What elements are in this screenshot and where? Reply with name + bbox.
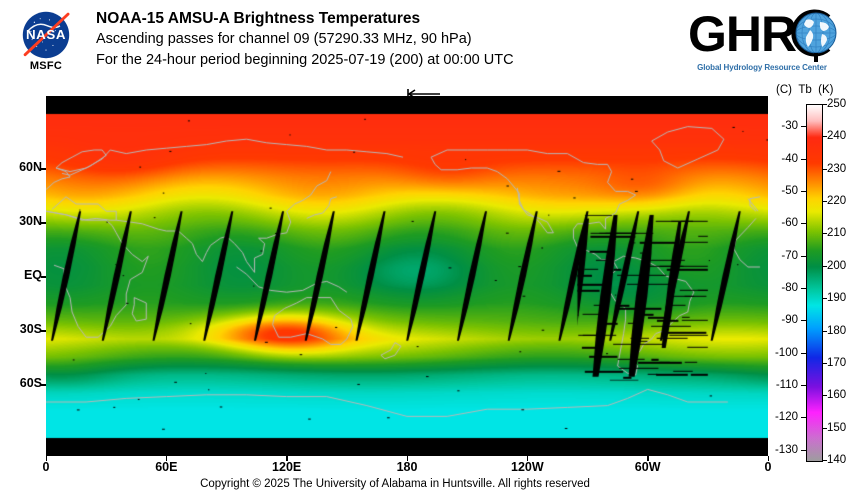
colorbar-tick bbox=[822, 363, 827, 364]
colorbar-tick bbox=[822, 266, 827, 267]
colorbar bbox=[806, 104, 823, 462]
colorbar-tick bbox=[801, 417, 806, 418]
lon-label-180: 180 bbox=[397, 460, 418, 474]
colorbar-tick bbox=[801, 256, 806, 257]
lon-tick bbox=[46, 456, 48, 461]
colorbar-tick bbox=[801, 320, 806, 321]
colorbar-celsius-labels: -30-40-50-60-70-80-90-100-110-120-130 bbox=[762, 0, 798, 502]
page-title: NOAA-15 AMSU-A Brightness Temperatures bbox=[96, 8, 696, 29]
colorbar-celsius-tick: -30 bbox=[781, 120, 798, 132]
colorbar-kelvin-tick: 240 bbox=[827, 130, 846, 142]
colorbar-tick bbox=[822, 233, 827, 234]
title-block: NOAA-15 AMSU-A Brightness Temperatures A… bbox=[96, 8, 696, 71]
colorbar-tick bbox=[822, 169, 827, 170]
colorbar-gradient bbox=[807, 105, 822, 461]
colorbar-celsius-tick: -60 bbox=[781, 217, 798, 229]
colorbar-kelvin-tick: 250 bbox=[827, 98, 846, 110]
lon-tick bbox=[527, 456, 529, 461]
colorbar-kelvin-tick: 230 bbox=[827, 163, 846, 175]
colorbar-kelvin-tick: 170 bbox=[827, 357, 846, 369]
lon-tick bbox=[768, 456, 770, 461]
lon-label-120W: 120W bbox=[511, 460, 544, 474]
lat-label-30N: 30N bbox=[19, 214, 42, 228]
colorbar-kelvin-tick: 190 bbox=[827, 292, 846, 304]
lat-tick bbox=[41, 384, 46, 386]
lon-label-120E: 120E bbox=[272, 460, 301, 474]
copyright-notice: Copyright © 2025 The University of Alaba… bbox=[0, 478, 790, 490]
orbit-direction-marker-icon bbox=[406, 88, 442, 100]
lat-label-EQ: EQ bbox=[24, 268, 42, 282]
colorbar-tick bbox=[822, 428, 827, 429]
lat-tick bbox=[41, 222, 46, 224]
colorbar-celsius-tick: -90 bbox=[781, 314, 798, 326]
colorbar-tick bbox=[822, 460, 827, 461]
colorbar-tick bbox=[801, 353, 806, 354]
colorbar-tick bbox=[822, 395, 827, 396]
colorbar-kelvin-tick: 210 bbox=[827, 227, 846, 239]
colorbar-tick bbox=[822, 298, 827, 299]
lon-label-0: 0 bbox=[765, 460, 772, 474]
lat-label-30S: 30S bbox=[20, 322, 42, 336]
colorbar-celsius-tick: -40 bbox=[781, 153, 798, 165]
colorbar-tick bbox=[801, 450, 806, 451]
colorbar-kelvin-labels: 250240230220210200190180170160150140 bbox=[827, 0, 854, 502]
subtitle-period: For the 24-hour period beginning 2025-07… bbox=[96, 50, 696, 71]
colorbar-kelvin-tick: 150 bbox=[827, 422, 846, 434]
colorbar-celsius-tick: -70 bbox=[781, 250, 798, 262]
lat-tick bbox=[41, 168, 46, 170]
colorbar-celsius-tick: -130 bbox=[775, 444, 798, 456]
colorbar-celsius-tick: -110 bbox=[776, 379, 798, 391]
lat-tick bbox=[41, 276, 46, 278]
colorbar-variable: Tb bbox=[798, 84, 811, 96]
colorbar-kelvin-tick: 200 bbox=[827, 260, 846, 272]
lon-tick bbox=[286, 456, 288, 461]
colorbar-tick bbox=[801, 159, 806, 160]
colorbar-celsius-tick: -120 bbox=[775, 411, 798, 423]
lon-label-0: 0 bbox=[43, 460, 50, 474]
colorbar-tick bbox=[822, 104, 827, 105]
colorbar-tick bbox=[822, 136, 827, 137]
colorbar-kelvin-tick: 140 bbox=[827, 454, 846, 466]
colorbar-kelvin-tick: 180 bbox=[827, 325, 846, 337]
lat-label-60N: 60N bbox=[19, 160, 42, 174]
colorbar-tick bbox=[801, 385, 806, 386]
colorbar-kelvin-tick: 160 bbox=[827, 389, 846, 401]
subtitle-channel: Ascending passes for channel 09 (57290.3… bbox=[96, 29, 696, 50]
colorbar-tick bbox=[801, 126, 806, 127]
colorbar-kelvin-tick: 220 bbox=[827, 195, 846, 207]
colorbar-tick bbox=[801, 191, 806, 192]
lon-tick bbox=[647, 456, 649, 461]
latitude-axis: 60N30NEQ30S60S bbox=[0, 0, 42, 502]
colorbar-tick bbox=[822, 201, 827, 202]
colorbar-tick bbox=[801, 223, 806, 224]
colorbar-celsius-tick: -80 bbox=[781, 282, 798, 294]
colorbar-tick bbox=[822, 331, 827, 332]
lon-label-60W: 60W bbox=[635, 460, 661, 474]
brightness-temperature-map bbox=[46, 96, 768, 456]
colorbar-celsius-tick: -50 bbox=[781, 185, 798, 197]
lon-label-60E: 60E bbox=[155, 460, 177, 474]
lat-tick bbox=[41, 330, 46, 332]
lon-tick bbox=[407, 456, 409, 461]
colorbar-celsius-tick: -100 bbox=[775, 347, 798, 359]
lat-label-60S: 60S bbox=[20, 376, 42, 390]
colorbar-tick bbox=[801, 288, 806, 289]
lon-tick bbox=[166, 456, 168, 461]
map-plot-area bbox=[46, 96, 768, 456]
